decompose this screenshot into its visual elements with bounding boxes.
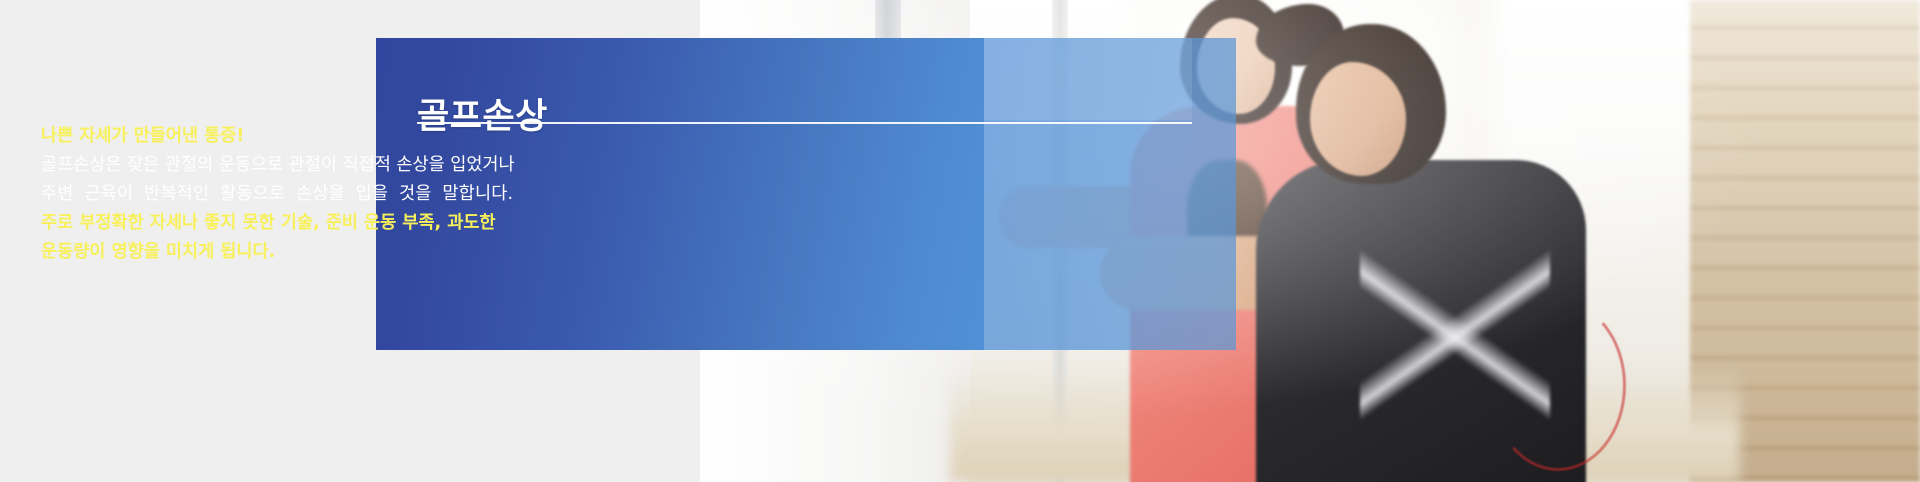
panel-overlay-header-extension	[984, 38, 1192, 120]
description-line-4: 주로 부정확한 자세나 좋지 못한 기술, 준비 운동 부족, 과도한	[41, 209, 601, 238]
description-block: 나쁜 자세가 만들어낸 통증! 골프손상은 잦은 관절의 운동으로 관절이 직접…	[41, 122, 601, 267]
description-line-5: 운동량이 영향을 미치게 됩니다.	[41, 238, 601, 267]
description-line-1: 나쁜 자세가 만들어낸 통증!	[41, 122, 601, 151]
description-line-3: 주변 근육이 반복적인 활동으로 손상을 입을 것을 말합니다.	[41, 180, 601, 209]
description-line-2: 골프손상은 잦은 관절의 운동으로 관절이 직접적 손상을 입었거나	[41, 151, 601, 180]
banner-stage: 골프손상 나쁜 자세가 만들어낸 통증! 골프손상은 잦은 관절의 운동으로 관…	[0, 0, 1920, 482]
title-divider-extension	[984, 122, 1192, 124]
